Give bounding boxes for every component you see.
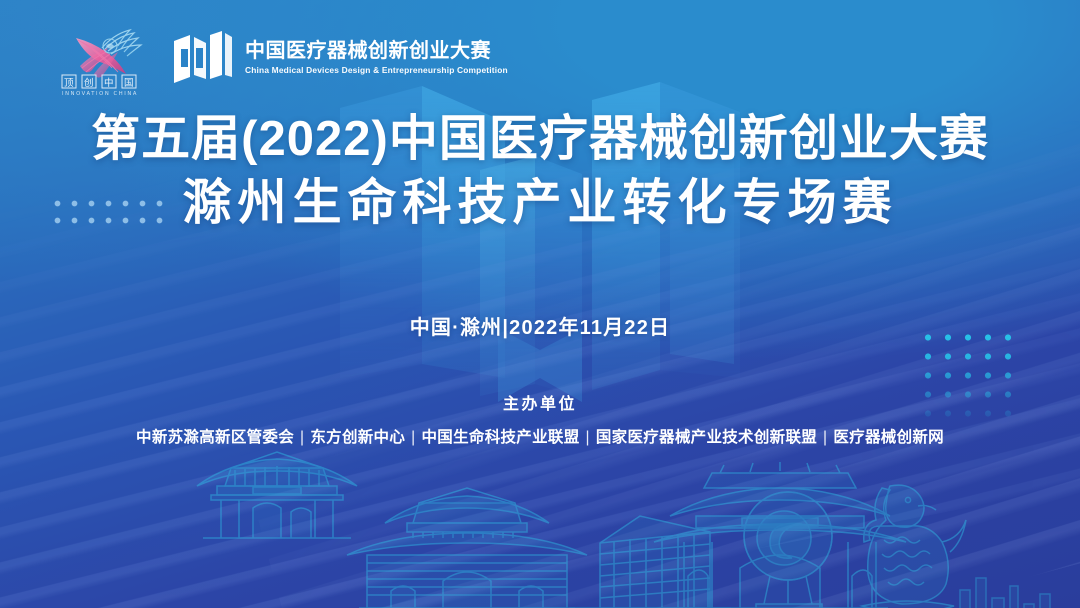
- svg-text:创: 创: [84, 77, 94, 89]
- organizer-item: 东方创新中心: [310, 429, 405, 446]
- organizer-item: 中国生命科技产业联盟: [422, 429, 580, 446]
- svg-text:顶: 顶: [64, 78, 74, 89]
- organizers-heading: 主办单位: [0, 390, 1080, 414]
- open-gate-door-icon: [172, 29, 234, 87]
- competition-logo: 中国医疗器械创新创业大赛 China Medical Devices Desig…: [172, 29, 508, 87]
- page-title: 第五届(2022)中国医疗器械创新创业大赛: [0, 112, 1080, 167]
- city-skyline-silhouette-icon: [0, 428, 1080, 608]
- organizer-separator: |: [405, 429, 421, 447]
- date-location-line: 中国·滁州|2022年11月22日: [0, 311, 1080, 340]
- svg-text:国: 国: [124, 78, 134, 89]
- organizer-item: 医疗器械创新网: [833, 429, 944, 446]
- svg-text:INNOVATION CHINA: INNOVATION CHINA: [62, 91, 138, 96]
- competition-name-en: China Medical Devices Design & Entrepren…: [245, 66, 508, 74]
- organizer-separator: |: [294, 429, 310, 447]
- organizers-list: 中新苏滁高新区管委会|东方创新中心|中国生命科技产业联盟|国家医疗器械产业技术创…: [0, 425, 1080, 447]
- phoenix-bird-icon: 顶创 中国 INNOVATION CHINA: [56, 22, 152, 94]
- svg-text:中: 中: [104, 77, 114, 89]
- title-block: 第五届(2022)中国医疗器械创新创业大赛 滁州生命科技产业转化专场赛: [0, 112, 1080, 231]
- poster-canvas: 顶创 中国 INNOVATION CHINA: [0, 0, 1080, 608]
- poster-header: 顶创 中国 INNOVATION CHINA: [56, 22, 508, 94]
- competition-name-cn: 中国医疗器械创新创业大赛: [245, 41, 508, 61]
- organizer-separator: |: [817, 429, 833, 447]
- organizer-item: 国家医疗器械产业技术创新联盟: [596, 429, 817, 446]
- organizer-item: 中新苏滁高新区管委会: [136, 429, 294, 446]
- organizer-separator: |: [580, 429, 596, 447]
- page-subtitle: 滁州生命科技产业转化专场赛: [0, 176, 1080, 231]
